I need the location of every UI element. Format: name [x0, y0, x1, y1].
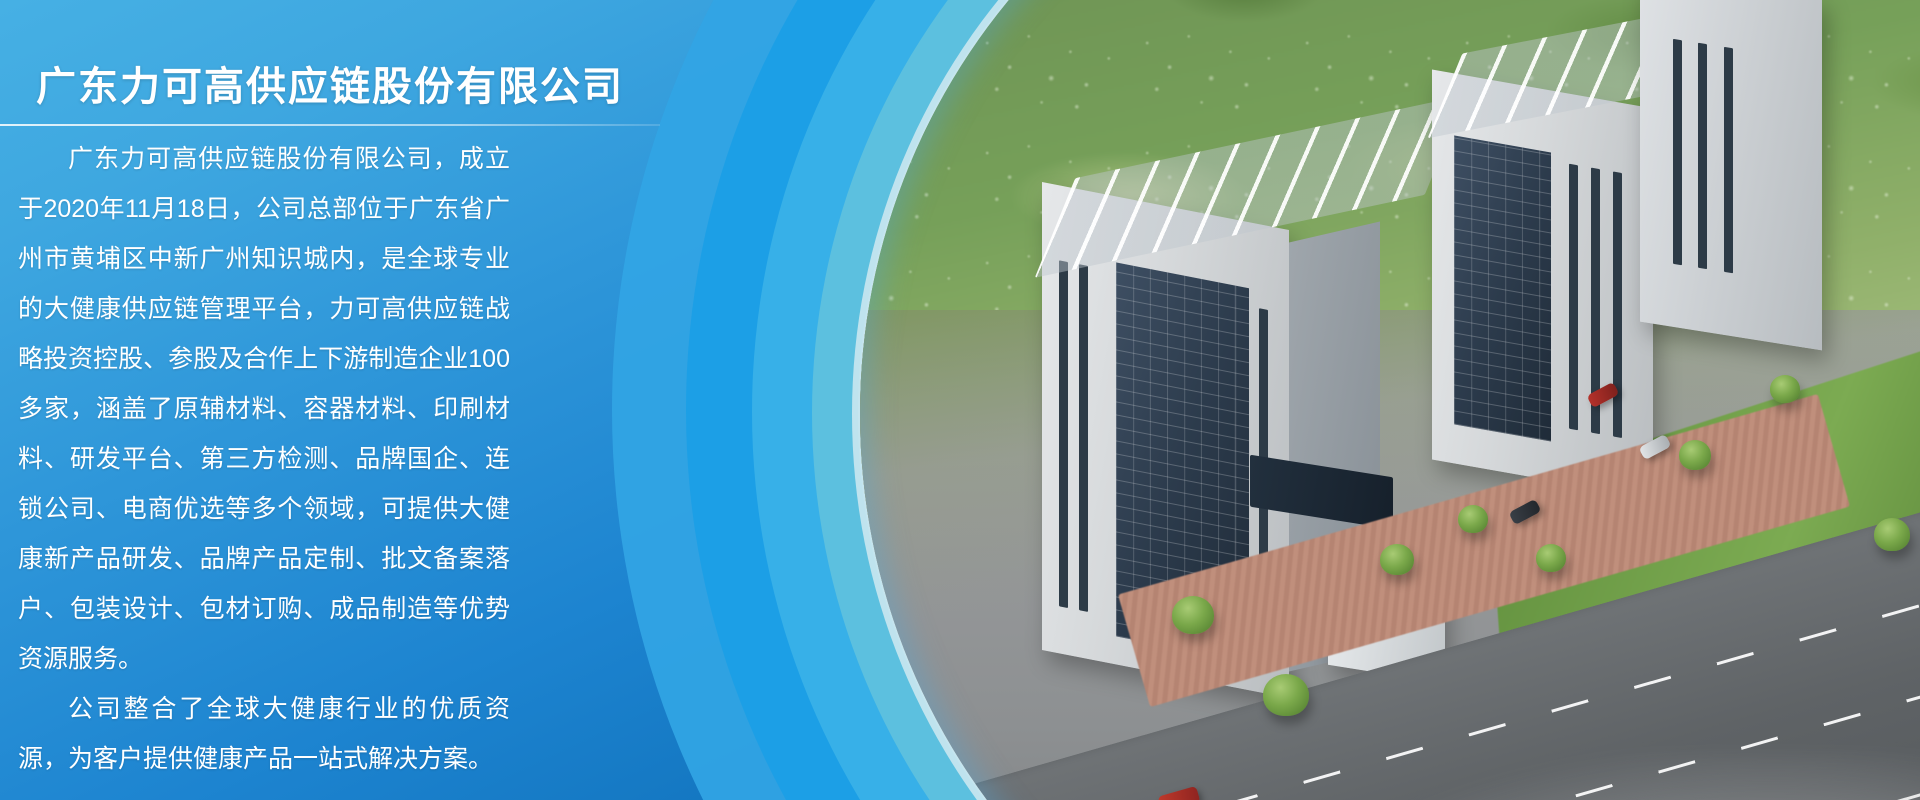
headquarters-photo [860, 0, 1920, 800]
company-description: 广东力可高供应链股份有限公司，成立于2020年11月18日，公司总部位于广东省广… [18, 134, 510, 784]
page-title: 广东力可高供应链股份有限公司 [36, 54, 624, 112]
description-paragraph-2: 公司整合了全球大健康行业的优质资源，为客户提供健康产品一站式解决方案。 [18, 684, 510, 784]
title-underline-rule [0, 124, 660, 126]
text-column: 广东力可高供应链股份有限公司 广东力可高供应链股份有限公司，成立于2020年11… [0, 0, 640, 800]
description-paragraph-1: 广东力可高供应链股份有限公司，成立于2020年11月18日，公司总部位于广东省广… [18, 134, 510, 684]
photo-edge-feather [860, 0, 1920, 800]
company-profile-banner: 广东力可高供应链股份有限公司 广东力可高供应链股份有限公司，成立于2020年11… [0, 0, 1920, 800]
